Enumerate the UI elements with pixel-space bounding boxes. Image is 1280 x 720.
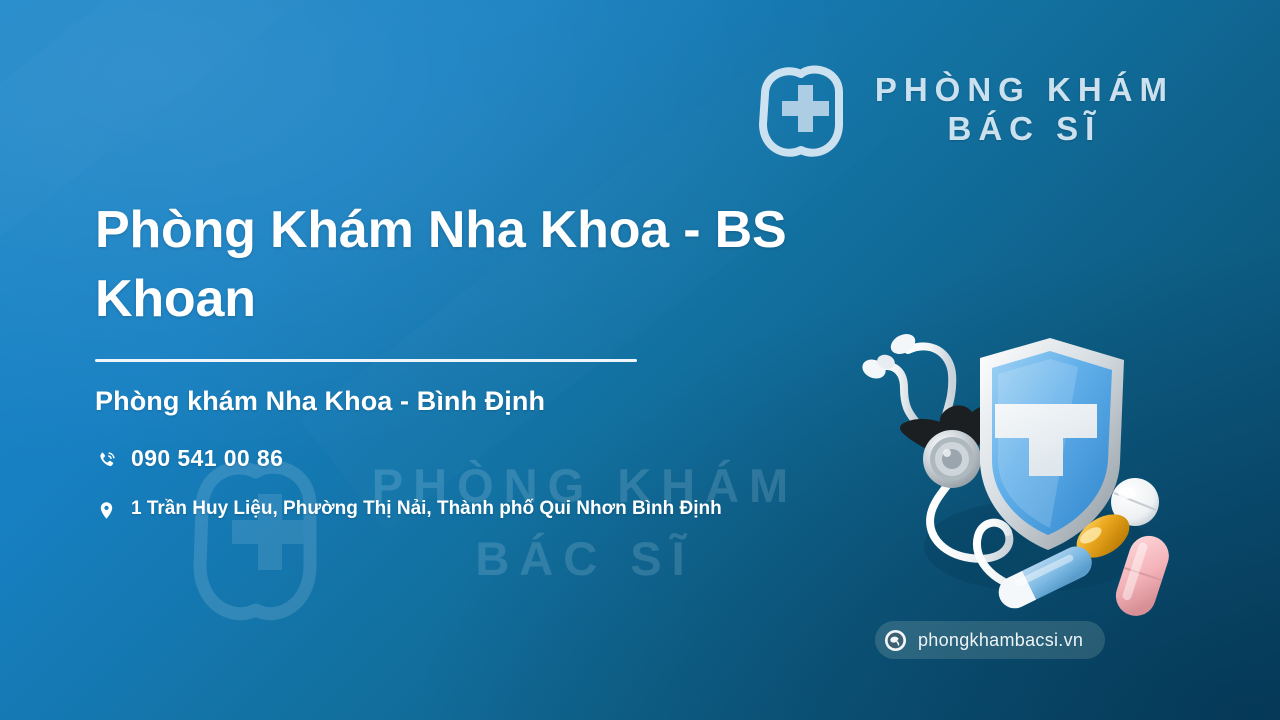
medical-cross-shield-icon bbox=[749, 58, 853, 162]
brand-logo: PHÒNG KHÁM BÁC SĨ bbox=[749, 58, 1174, 162]
map-pin-icon bbox=[95, 497, 117, 523]
globe-icon bbox=[884, 629, 907, 652]
phone-number: 090 541 00 86 bbox=[131, 445, 283, 472]
address-row[interactable]: 1 Trần Huy Liệu, Phường Thị Nải, Thành p… bbox=[95, 495, 815, 524]
website-url: phongkhambacsi.vn bbox=[918, 630, 1083, 651]
website-badge[interactable]: phongkhambacsi.vn bbox=[875, 621, 1105, 659]
clinic-banner: PHÒNG KHÁM BÁC SĨ PHÒNG KHÁM BÁC SĨ Phòn… bbox=[0, 0, 1280, 720]
brand-logo-text: PHÒNG KHÁM BÁC SĨ bbox=[875, 71, 1174, 149]
page-title: Phòng Khám Nha Khoa - BS Khoan bbox=[95, 196, 815, 333]
stethoscope-chestpiece bbox=[923, 430, 981, 488]
title-divider bbox=[95, 359, 637, 362]
watermark-line-2: BÁC SĨ bbox=[360, 523, 810, 596]
stethoscope-eartips bbox=[860, 330, 919, 382]
address-text: 1 Trần Huy Liệu, Phường Thị Nải, Thành p… bbox=[131, 495, 722, 524]
phone-row[interactable]: 090 541 00 86 bbox=[95, 445, 815, 473]
brand-logo-line-2: BÁC SĨ bbox=[875, 110, 1174, 149]
clinic-info-block: Phòng Khám Nha Khoa - BS Khoan Phòng khá… bbox=[95, 196, 815, 524]
brand-logo-line-1: PHÒNG KHÁM bbox=[875, 71, 1174, 110]
phone-call-icon bbox=[95, 447, 117, 473]
medical-illustration bbox=[846, 296, 1182, 620]
clinic-subtitle: Phòng khám Nha Khoa - Bình Định bbox=[95, 386, 815, 417]
